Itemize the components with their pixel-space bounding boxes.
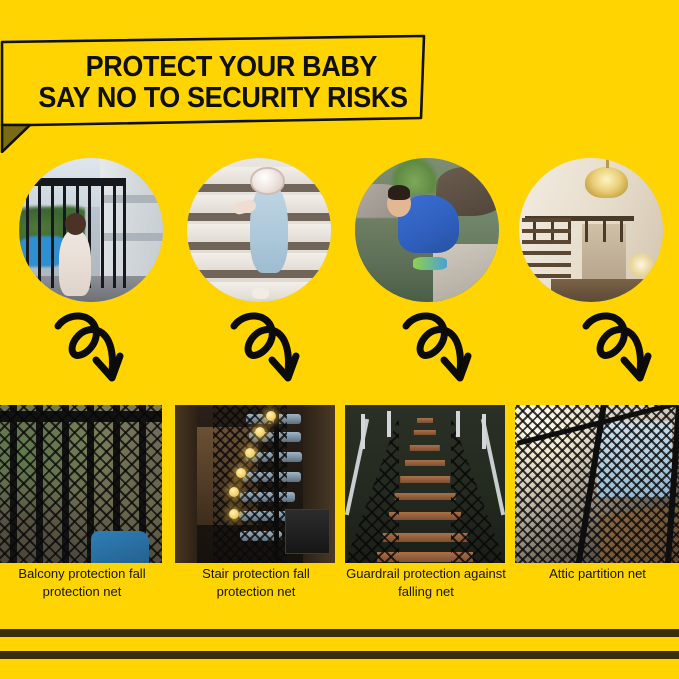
product-photo-balcony-net [0,405,162,563]
product-photo-attic-net [515,405,679,563]
caption-stair-net: Stair protection fall protection net [176,565,336,601]
product-caption-row: Balcony protection fall protection net S… [0,565,679,611]
bottom-stripe-upper [0,629,679,637]
photo-loft-hazard [519,158,663,302]
photo-pond-hazard [355,158,499,302]
caption-balcony-net: Balcony protection fall protection net [2,565,162,601]
product-photo-row [0,405,679,563]
curly-down-arrow-icon-3 [398,308,488,394]
headline-line-2: SAY NO TO SECURITY RISKS [21,83,425,114]
hazard-circle-row [0,158,679,304]
hazard-photo-loft-interior [519,158,663,302]
bottom-stripe-lower [0,651,679,659]
curly-down-arrow-icon-4 [578,308,668,394]
headline-banner: PROTECT YOUR BABY SAY NO TO SECURITY RIS… [0,28,460,153]
product-banner-canvas: PROTECT YOUR BABY SAY NO TO SECURITY RIS… [0,0,679,679]
hazard-photo-baby-climbing-stairs [187,158,331,302]
caption-attic-net: Attic partition net [516,565,679,583]
curly-down-arrow-icon-1 [50,308,140,394]
photo-balcony-hazard [19,158,163,302]
product-photo-guardrail-net [345,405,505,563]
headline-line-1: PROTECT YOUR BABY [21,52,425,83]
hazard-photo-boy-at-pond [355,158,499,302]
product-photo-stair-net [175,405,335,563]
curly-down-arrow-icon-2 [226,308,316,394]
caption-guardrail-net: Guardrail protection against falling net [346,565,506,601]
arrow-row [0,308,679,398]
photo-stairs-hazard [187,158,331,302]
hazard-photo-baby-at-balcony-railing [19,158,163,302]
